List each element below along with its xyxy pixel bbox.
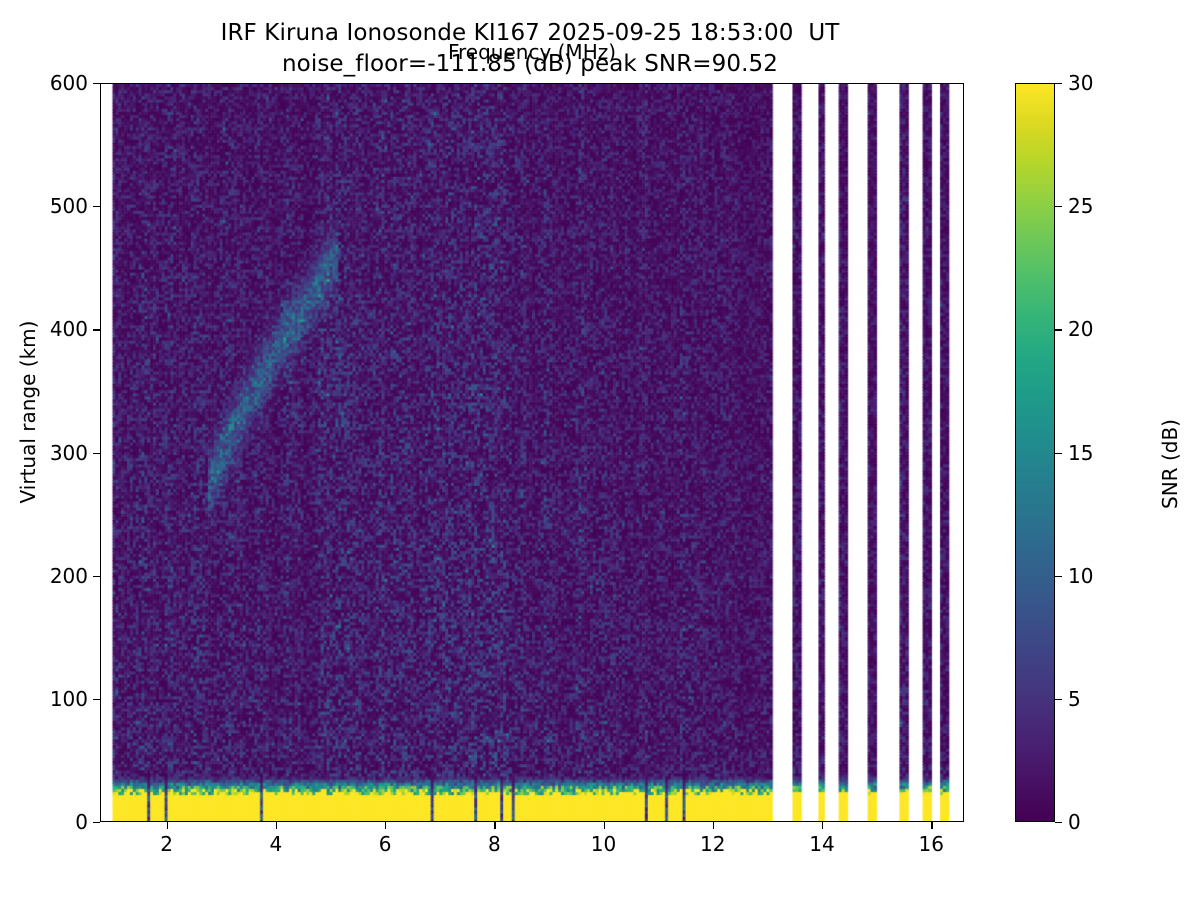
x-axis: 246810121416 bbox=[0, 822, 1200, 900]
colorbar-tick-mark bbox=[1055, 329, 1062, 330]
x-tick-label: 8 bbox=[454, 833, 534, 855]
x-tick-label: 4 bbox=[236, 833, 316, 855]
y-tick-mark bbox=[93, 699, 100, 700]
y-tick-label: 100 bbox=[4, 689, 88, 709]
y-axis: 0100200300400500600 bbox=[0, 0, 100, 900]
colorbar-tick-label: 30 bbox=[1068, 73, 1093, 93]
y-tick-label: 600 bbox=[4, 73, 88, 93]
x-tick-label: 2 bbox=[127, 833, 207, 855]
colorbar-tick-mark bbox=[1055, 576, 1062, 577]
colorbar bbox=[1015, 83, 1055, 822]
ionogram-heatmap bbox=[101, 84, 963, 821]
x-tick-mark bbox=[713, 822, 714, 829]
x-tick-mark bbox=[276, 822, 277, 829]
x-tick-label: 12 bbox=[673, 833, 753, 855]
x-tick-label: 10 bbox=[564, 833, 644, 855]
x-tick-mark bbox=[494, 822, 495, 829]
y-tick-mark bbox=[93, 206, 100, 207]
colorbar-axis: 051015202530 bbox=[1055, 83, 1175, 822]
x-tick-label: 14 bbox=[782, 833, 862, 855]
colorbar-tick-label: 20 bbox=[1068, 319, 1093, 339]
colorbar-tick-label: 25 bbox=[1068, 196, 1093, 216]
colorbar-gradient bbox=[1016, 84, 1054, 821]
x-tick-mark bbox=[604, 822, 605, 829]
colorbar-tick-mark bbox=[1055, 206, 1062, 207]
colorbar-tick-label: 0 bbox=[1068, 812, 1081, 832]
colorbar-tick-mark bbox=[1055, 83, 1062, 84]
ionogram-plot-area bbox=[100, 83, 964, 822]
colorbar-tick-label: 15 bbox=[1068, 443, 1093, 463]
colorbar-tick-mark bbox=[1055, 699, 1062, 700]
colorbar-tick-label: 5 bbox=[1068, 689, 1081, 709]
x-tick-mark bbox=[167, 822, 168, 829]
colorbar-tick-label: 10 bbox=[1068, 566, 1093, 586]
x-axis-label: Frequency (MHz) bbox=[100, 40, 964, 64]
y-tick-mark bbox=[93, 576, 100, 577]
colorbar-label: SNR (dB) bbox=[1158, 334, 1182, 594]
x-tick-label: 16 bbox=[891, 833, 971, 855]
x-tick-mark bbox=[931, 822, 932, 829]
x-tick-label: 6 bbox=[345, 833, 425, 855]
ionogram-figure: IRF Kiruna Ionosonde KI167 2025-09-25 18… bbox=[0, 0, 1200, 900]
y-tick-mark bbox=[93, 83, 100, 84]
x-tick-mark bbox=[385, 822, 386, 829]
y-axis-label: Virtual range (km) bbox=[16, 152, 40, 672]
y-tick-mark bbox=[93, 329, 100, 330]
x-tick-mark bbox=[822, 822, 823, 829]
colorbar-tick-mark bbox=[1055, 822, 1062, 823]
y-tick-mark bbox=[93, 453, 100, 454]
colorbar-tick-mark bbox=[1055, 453, 1062, 454]
